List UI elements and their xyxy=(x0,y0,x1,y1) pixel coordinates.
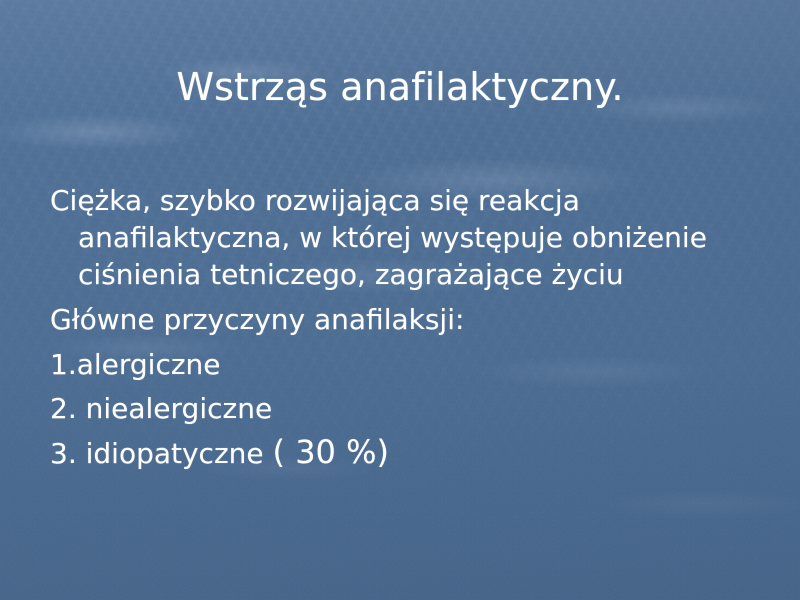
presentation-slide: Wstrząs anafilaktyczny. Ciężka, szybko r… xyxy=(0,0,800,600)
slide-content: Wstrząs anafilaktyczny. Ciężka, szybko r… xyxy=(0,0,800,600)
cause-item-3-label: 3. idiopatyczne xyxy=(50,437,273,470)
slide-title: Wstrząs anafilaktyczny. xyxy=(0,64,800,110)
cause-item-1: 1.alergiczne xyxy=(50,346,770,383)
cause-item-3: 3. idiopatyczne ( 30 %) xyxy=(50,434,770,472)
slide-body: Ciężka, szybko rozwijająca się reakcja a… xyxy=(50,182,770,479)
definition-paragraph: Ciężka, szybko rozwijająca się reakcja a… xyxy=(50,182,790,293)
causes-heading: Główne przyczyny anafilaksji: xyxy=(50,301,770,338)
cause-item-2: 2. niealergiczne xyxy=(50,390,770,427)
cause-item-3-percentage: ( 30 %) xyxy=(273,433,389,471)
